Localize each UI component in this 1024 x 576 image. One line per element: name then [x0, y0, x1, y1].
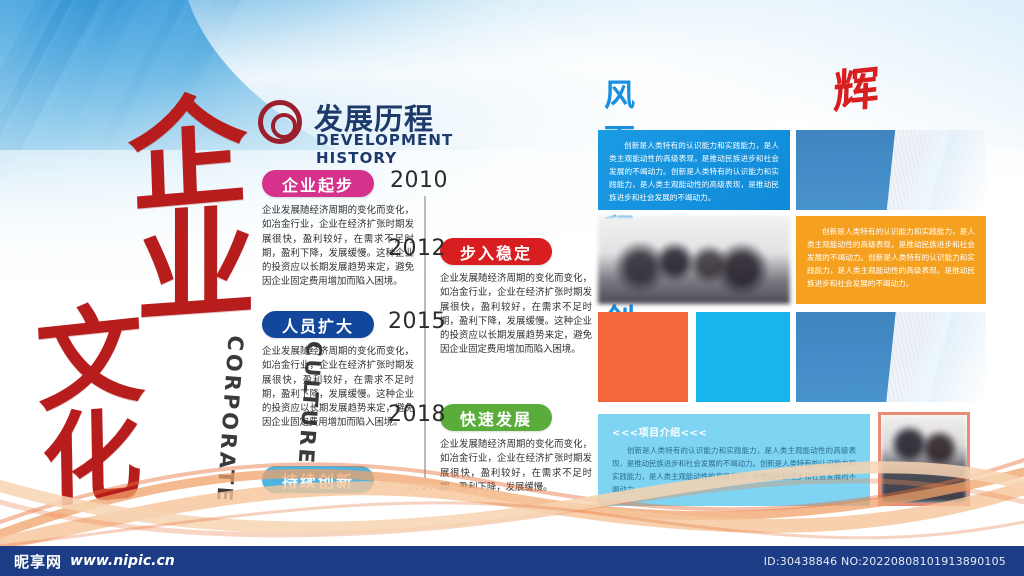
timeline-year-4: 2018 — [388, 402, 446, 427]
text-tile-orange: 创新是人类特有的认识能力和实践能力，是人类主观能动性的高级表现，是推动民族进步和… — [796, 216, 986, 304]
poster-canvas: 企 业 文 化 CULTURE CORPORATE 发展历程 DEVELOPME… — [0, 0, 1024, 576]
timeline-header: 发展历程 DEVELOPMENT HISTORY — [258, 98, 528, 158]
timeline-body-2: 企业发展随经济周期的变化而变化，如冶金行业，企业在经济扩张时期发展很快，盈利较好… — [440, 272, 592, 358]
footer-brand-logo: 昵享网 — [14, 551, 62, 572]
timeline-year-1: 2010 — [390, 168, 448, 193]
bottom-wave-decoration — [0, 426, 1024, 546]
text-tile-blue: 创新是人类特有的认识能力和实践能力，是人类主观能动性的高级表现，是推动民族进步和… — [598, 130, 790, 210]
timeline-badge-2[interactable]: 步入稳定 — [440, 238, 552, 265]
photo-skyscraper-top — [796, 130, 986, 210]
timeline-year-2: 2012 — [388, 236, 446, 261]
photo-skyscraper-bottom — [796, 312, 986, 402]
timeline-badge-3[interactable]: 人员扩大 — [262, 311, 374, 338]
calligraphy-char-2: 业 — [136, 210, 256, 324]
footer-url: www.nipic.cn — [70, 553, 175, 569]
footer-id-text: ID:30438846 NO:20220808101913890105 — [764, 555, 1006, 568]
timeline-title-en: DEVELOPMENT HISTORY — [316, 131, 528, 167]
target-ring-icon — [258, 100, 302, 144]
timeline-year-3: 2015 — [388, 309, 446, 334]
timeline-badge-1[interactable]: 企业起步 — [262, 170, 374, 197]
color-block-orange — [598, 312, 688, 402]
footer-bar: 昵享网 www.nipic.cn ID:30438846 NO:20220808… — [0, 546, 1024, 576]
color-block-cyan — [696, 312, 790, 402]
photo-team — [598, 216, 790, 304]
